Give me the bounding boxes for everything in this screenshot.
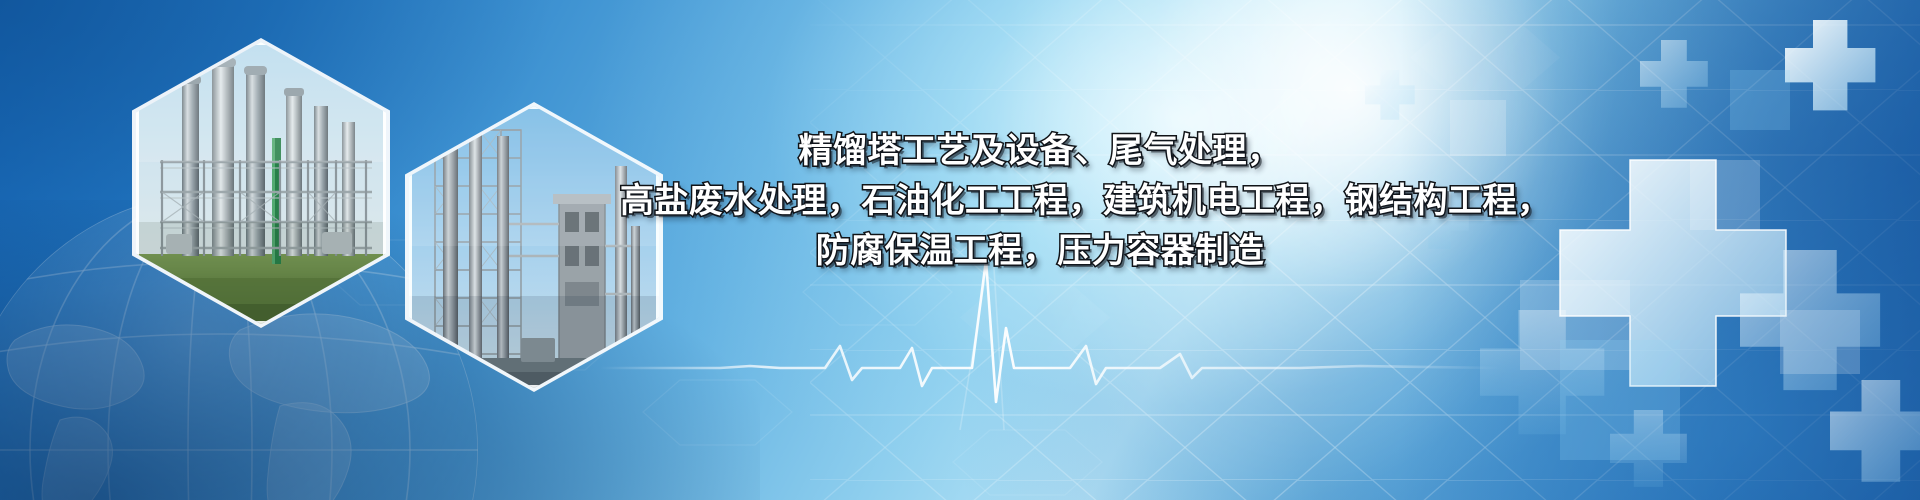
headline-line-1: 精馏塔工艺及设备、尾气处理， — [620, 126, 1460, 176]
vignette-right — [1400, 0, 1920, 500]
company-service-banner: 精馏塔工艺及设备、尾气处理， 高盐废水处理，石油化工工程，建筑机电工程，钢结构工… — [0, 0, 1920, 500]
headline-line-2: 高盐废水处理，石油化工工程，建筑机电工程，钢结构工程， — [620, 176, 1460, 226]
photo-hex-ring — [136, 42, 386, 324]
headline-line-3: 防腐保温工程，压力容器制造 — [620, 226, 1460, 276]
distillation-plant-photo — [136, 42, 386, 324]
banner-headline: 精馏塔工艺及设备、尾气处理， 高盐废水处理，石油化工工程，建筑机电工程，钢结构工… — [620, 126, 1460, 276]
